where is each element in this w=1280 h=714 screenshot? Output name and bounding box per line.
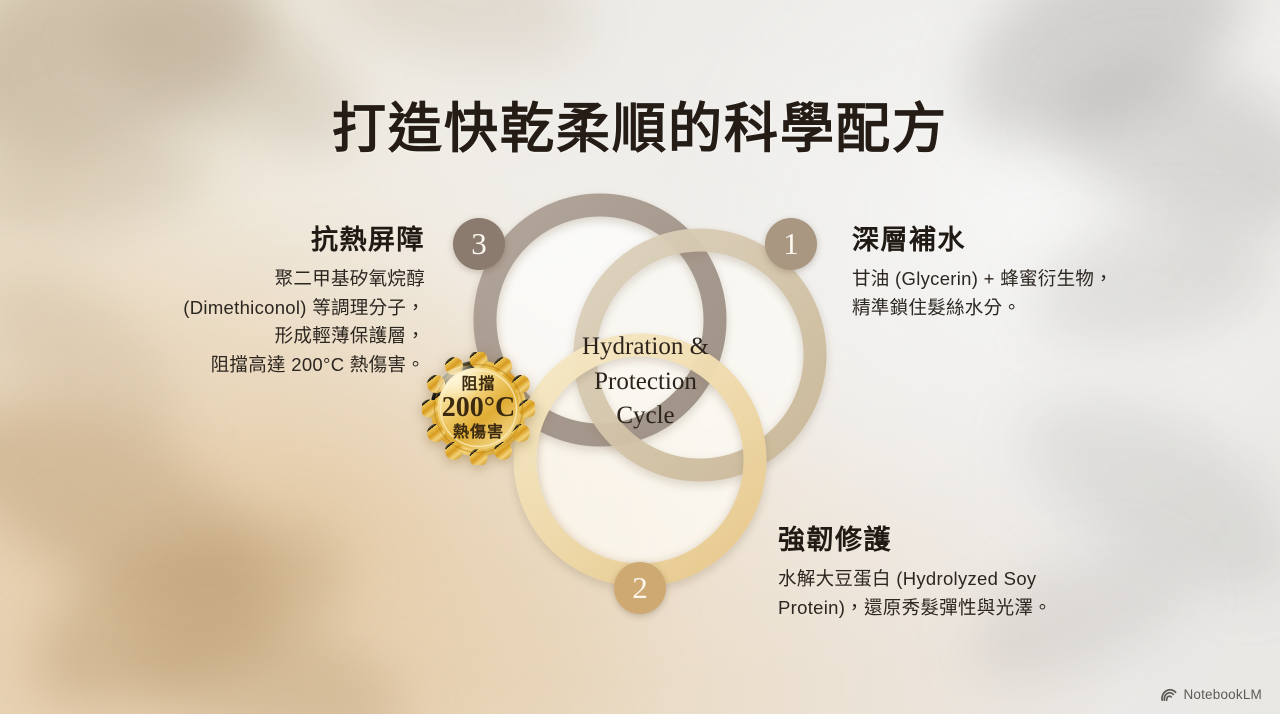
cycle-node-1-number: 1 bbox=[783, 226, 799, 262]
feature-heading-heat-shield: 抗熱屏障 bbox=[125, 218, 425, 257]
notebooklm-label: NotebookLM bbox=[1183, 687, 1262, 702]
cycle-node-2-number: 2 bbox=[632, 570, 648, 606]
feature-heading-repair: 強韌修護 bbox=[778, 518, 1108, 557]
seal-line-top: 阻擋 bbox=[461, 376, 495, 394]
feature-body-heat-shield: 聚二甲基矽氧烷醇 (Dimethiconol) 等調理分子， 形成輕薄保護層， … bbox=[125, 265, 425, 380]
cycle-node-1[interactable]: 1 bbox=[765, 218, 817, 270]
cycle-node-2[interactable]: 2 bbox=[614, 562, 666, 614]
feature-body-repair: 水解大豆蛋白 (Hydrolyzed Soy Protein)，還原秀髮彈性與光… bbox=[778, 565, 1108, 622]
feature-block-hydration: 深層補水 甘油 (Glycerin) + 蜂蜜衍生物， 精準鎖住髮絲水分。 bbox=[852, 218, 1172, 322]
heat-protection-seal-badge: 阻擋 200°C 熱傷害 bbox=[422, 352, 535, 465]
cycle-node-3-number: 3 bbox=[471, 226, 487, 262]
cycle-node-3[interactable]: 3 bbox=[453, 218, 505, 270]
feature-block-repair: 強韌修護 水解大豆蛋白 (Hydrolyzed Soy Protein)，還原秀… bbox=[778, 518, 1108, 622]
notebooklm-watermark: NotebookLM bbox=[1160, 687, 1262, 702]
notebooklm-icon bbox=[1160, 688, 1177, 702]
seal-line-bottom: 熱傷害 bbox=[453, 424, 504, 442]
slide-canvas: 打造快乾柔順的科學配方 bbox=[0, 0, 1280, 714]
seal-line-temperature: 200°C bbox=[442, 393, 515, 424]
page-title: 打造快乾柔順的科學配方 bbox=[0, 98, 1280, 162]
feature-block-heat-shield: 抗熱屏障 聚二甲基矽氧烷醇 (Dimethiconol) 等調理分子， 形成輕薄… bbox=[125, 218, 425, 380]
feature-heading-hydration: 深層補水 bbox=[852, 218, 1172, 257]
cycle-center-label: Hydration & Protection Cycle bbox=[533, 330, 758, 434]
seal-text: 阻擋 200°C 熱傷害 bbox=[422, 352, 535, 465]
feature-body-hydration: 甘油 (Glycerin) + 蜂蜜衍生物， 精準鎖住髮絲水分。 bbox=[852, 265, 1172, 322]
